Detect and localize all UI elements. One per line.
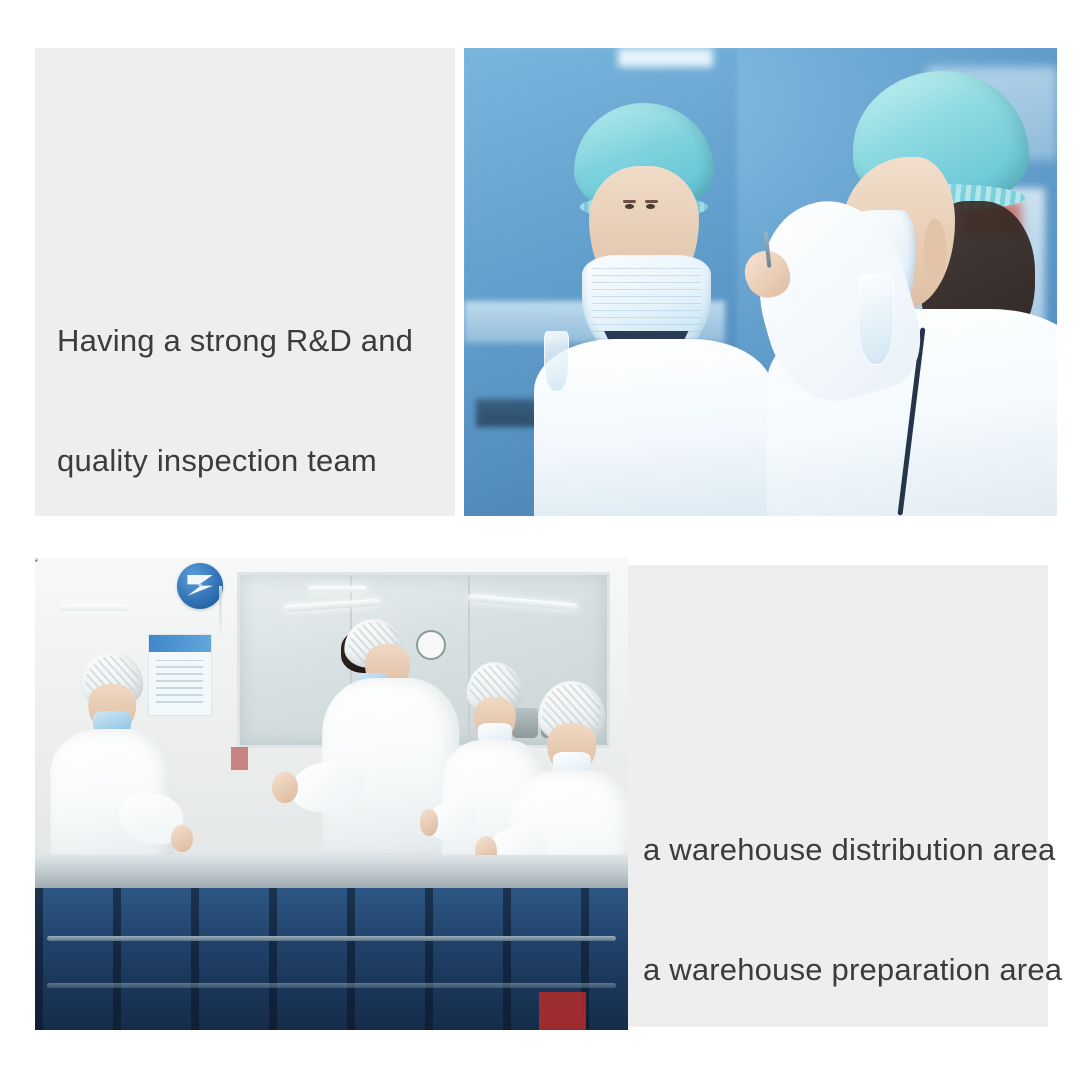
eye-left [625,204,634,209]
slide-canvas: Having a strong R&D and quality inspecti… [0,0,1080,1080]
caption-warehouse: a warehouse distribution area a warehous… [643,750,1062,1070]
red-floor-marker [539,992,586,1030]
hanging-cable [219,586,222,640]
table-rail [47,983,616,988]
eye-right [646,204,655,209]
ceiling-light [308,586,367,592]
red-item [231,747,249,771]
caption-line-2: a warehouse preparation area [643,950,1062,990]
ceiling-tube-light [284,599,380,613]
caption-line-2: quality inspection team [57,441,413,481]
lab-coat [534,339,773,516]
lab-technician-left [529,95,778,516]
table-rail [47,936,616,941]
lab-background [464,48,1057,516]
sample-vial [544,331,568,392]
warehouse-worker [53,652,172,879]
warehouse-packing-photo [35,558,628,1030]
worker-hand [420,809,438,835]
eyebrow-left [623,200,636,203]
ceiling-light [618,48,713,67]
warehouse-background [35,558,628,1030]
steel-worktable [35,855,628,888]
ceiling-tube-light [467,594,577,611]
caption-research-quality: Having a strong R&D and quality inspecti… [57,241,413,561]
lab-technician-right [784,67,1057,516]
glass-flask [858,273,894,365]
eyebrow-right [645,200,658,203]
worker-hand [171,825,192,852]
caption-line-1: a warehouse distribution area [643,830,1062,870]
ceiling-light [59,605,130,611]
caption-line-1: Having a strong R&D and [57,321,413,361]
lab-quality-inspection-photo [464,48,1057,516]
company-logo-icon [177,563,223,609]
